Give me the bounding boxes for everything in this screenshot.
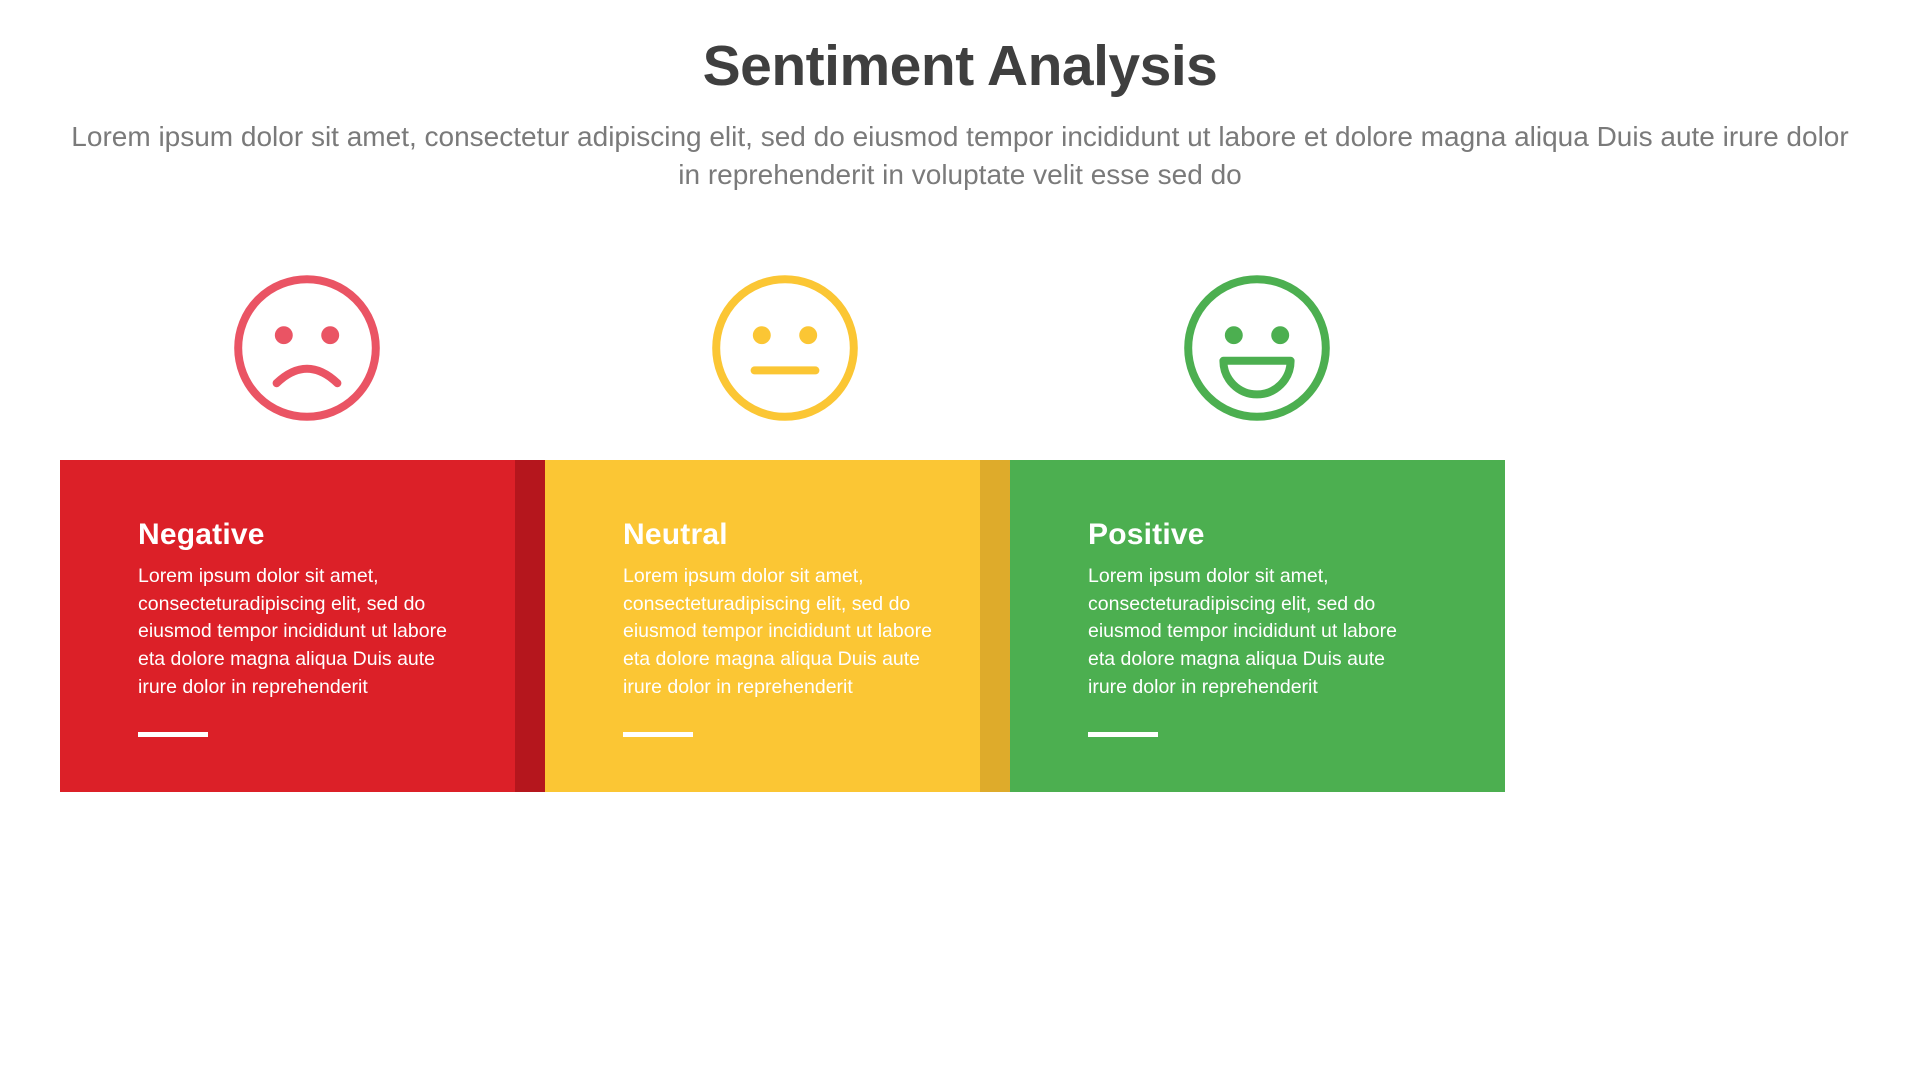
card-description: Lorem ipsum dolor sit amet, consectetura… — [1088, 563, 1413, 701]
card-negative-content: Negative Lorem ipsum dolor sit amet, con… — [138, 518, 468, 701]
page-subtitle: Lorem ipsum dolor sit amet, consectetur … — [65, 118, 1855, 195]
card-underline-rule — [623, 732, 693, 737]
card-positive-content: Positive Lorem ipsum dolor sit amet, con… — [1088, 518, 1418, 701]
card-underline-rule — [1088, 732, 1158, 737]
neutral-face-icon — [705, 268, 865, 428]
header: Sentiment Analysis Lorem ipsum dolor sit… — [0, 34, 1920, 195]
card-title: Neutral — [623, 518, 953, 551]
card-title: Negative — [138, 518, 468, 551]
infographic-slide: Sentiment Analysis Lorem ipsum dolor sit… — [0, 0, 1920, 1080]
face-icons-row — [60, 268, 1860, 433]
card-neutral-content: Neutral Lorem ipsum dolor sit amet, cons… — [623, 518, 953, 701]
happy-face-icon — [1177, 268, 1337, 428]
card-neutral-accent — [978, 460, 1010, 792]
sentiment-cards-row: Negative Lorem ipsum dolor sit amet, con… — [60, 460, 1505, 792]
card-title: Positive — [1088, 518, 1418, 551]
card-negative[interactable]: Negative Lorem ipsum dolor sit amet, con… — [60, 460, 545, 792]
card-description: Lorem ipsum dolor sit amet, consectetura… — [623, 563, 948, 701]
card-underline-rule — [138, 732, 208, 737]
card-description: Lorem ipsum dolor sit amet, consectetura… — [138, 563, 463, 701]
card-positive[interactable]: Positive Lorem ipsum dolor sit amet, con… — [1010, 460, 1505, 792]
sad-face-icon — [227, 268, 387, 428]
card-neutral[interactable]: Neutral Lorem ipsum dolor sit amet, cons… — [545, 460, 1010, 792]
page-title: Sentiment Analysis — [0, 34, 1920, 100]
card-negative-accent — [513, 460, 545, 792]
